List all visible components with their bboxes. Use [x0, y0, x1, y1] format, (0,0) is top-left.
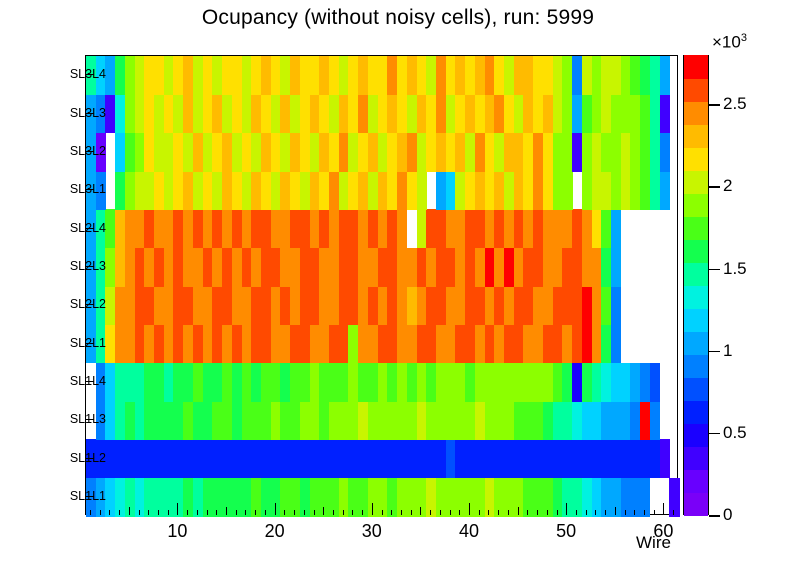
y-axis-tick [85, 228, 94, 229]
x-axis-tick [314, 510, 315, 515]
x-axis-tick [566, 503, 567, 515]
color-scale-exponent: ×103 [712, 32, 747, 53]
x-axis-tick [382, 510, 383, 515]
color-scale-ticklabel: 2.5 [723, 94, 747, 114]
root-canvas: Ocupancy (without noisy cells), run: 599… [0, 0, 796, 572]
page-title: Ocupancy (without noisy cells), run: 599… [0, 6, 796, 30]
x-axis-tick [323, 507, 324, 515]
x-axis-tick [411, 510, 412, 515]
x-axis-tick [284, 510, 285, 515]
color-scale-band [684, 377, 708, 401]
x-axis-tick [479, 510, 480, 515]
x-axis-tick [236, 510, 237, 515]
x-axis-tick [440, 510, 441, 515]
color-scale-band [684, 239, 708, 263]
color-scale-tick [709, 515, 720, 517]
x-axis-tick [518, 507, 519, 515]
color-scale-band [684, 124, 708, 148]
x-axis-tick [216, 510, 217, 515]
heatmap-cells [86, 56, 677, 514]
color-scale-band [684, 193, 708, 217]
heatmap-cell [611, 286, 621, 325]
x-axis-tick [488, 510, 489, 515]
x-axis-tick [187, 510, 188, 515]
x-axis-tick [119, 510, 120, 515]
x-axis-tick [547, 510, 548, 515]
heatmap-cell [660, 94, 670, 133]
heatmap-cell [417, 171, 427, 210]
heatmap-cell [669, 478, 679, 517]
color-scale-bar[interactable] [683, 55, 709, 515]
x-axis-tick [644, 510, 645, 515]
x-axis-tick [625, 510, 626, 515]
color-scale-band [684, 262, 708, 286]
color-scale-band [684, 216, 708, 240]
color-scale-band [684, 55, 708, 79]
x-axis-tick [401, 510, 402, 515]
x-axis-tick [372, 503, 373, 515]
x-axis-tick [197, 510, 198, 515]
x-axis-tick [362, 510, 363, 515]
color-scale-band [684, 446, 708, 470]
heatmap-cell [611, 324, 621, 363]
color-scale-band [684, 308, 708, 332]
x-axis-tick [226, 507, 227, 515]
y-axis-tick [85, 151, 94, 152]
heatmap-cell [397, 209, 407, 248]
color-scale-band [684, 101, 708, 125]
color-scale-ticklabel: 0 [723, 505, 732, 525]
x-axis-tick [352, 510, 353, 515]
x-axis-tick [294, 510, 295, 515]
color-scale-tick [709, 104, 720, 106]
y-axis-tick [85, 74, 94, 75]
heatmap-cell [660, 56, 670, 95]
color-scale-ticklabel: 0.5 [723, 423, 747, 443]
color-scale-band [684, 354, 708, 378]
heatmap-frame[interactable] [85, 55, 678, 515]
y-axis-tick [85, 496, 94, 497]
x-axis-tick [469, 503, 470, 515]
y-axis-tick [85, 113, 94, 114]
color-scale-band [684, 423, 708, 447]
color-scale-ticklabel: 2 [723, 176, 732, 196]
color-scale-tick [709, 351, 720, 353]
x-axis-ticklabel: 50 [556, 521, 576, 542]
color-scale-tick [709, 433, 720, 435]
x-axis-tick [605, 510, 606, 515]
color-scale-tick [709, 269, 720, 271]
x-axis-tick [527, 510, 528, 515]
x-axis-tick [158, 510, 159, 515]
x-axis-ticklabel: 10 [167, 521, 187, 542]
x-axis-ticklabel: 30 [362, 521, 382, 542]
heatmap-cell [650, 363, 660, 402]
heatmap-cell [611, 248, 621, 287]
y-axis-tick [85, 381, 94, 382]
y-axis-tick [85, 189, 94, 190]
color-scale-ticklabel: 1 [723, 341, 732, 361]
x-axis-tick [168, 510, 169, 515]
y-axis-tick [85, 266, 94, 267]
x-axis-tick [343, 510, 344, 515]
x-axis-tick [595, 510, 596, 515]
y-axis-tick [85, 419, 94, 420]
x-axis-tick [430, 510, 431, 515]
x-axis-tick [177, 503, 178, 515]
color-scale-band [684, 78, 708, 102]
heatmap-cell [660, 133, 670, 172]
heatmap-cell [562, 171, 572, 210]
x-axis-tick [537, 510, 538, 515]
x-axis-ticklabel: 40 [459, 521, 479, 542]
color-scale-band [684, 469, 708, 493]
x-axis-tick [139, 510, 140, 515]
x-axis-tick [663, 503, 664, 515]
x-axis-tick [634, 510, 635, 515]
color-scale-band [684, 285, 708, 309]
color-scale-band [684, 331, 708, 355]
x-axis-tick [450, 510, 451, 515]
x-axis-tick [255, 510, 256, 515]
color-scale-ticklabel: 1.5 [723, 259, 747, 279]
color-scale-band [684, 400, 708, 424]
x-axis-tick [557, 510, 558, 515]
heatmap-cell [650, 401, 660, 440]
x-axis-tick [275, 503, 276, 515]
x-axis-tick [459, 510, 460, 515]
x-axis-tick [498, 510, 499, 515]
heatmap-cell [611, 209, 621, 248]
x-axis-tick [90, 510, 91, 515]
x-axis-tick [586, 510, 587, 515]
x-axis-ticklabel: 20 [265, 521, 285, 542]
x-axis-tick [420, 507, 421, 515]
x-axis-tick [391, 510, 392, 515]
x-axis-tick [333, 510, 334, 515]
heatmap-cell [640, 478, 650, 517]
x-axis-tick [109, 510, 110, 515]
x-axis-tick [245, 510, 246, 515]
y-axis-tick [85, 343, 94, 344]
x-axis-tick [576, 510, 577, 515]
color-scale-tick [709, 186, 720, 188]
x-axis-tick [265, 510, 266, 515]
x-axis-tick [654, 510, 655, 515]
x-axis-tick [129, 507, 130, 515]
color-scale-band [684, 170, 708, 194]
x-axis-tick [615, 507, 616, 515]
heatmap-cell [660, 439, 670, 478]
x-axis-title: Wire [636, 533, 671, 553]
color-scale-band [684, 492, 708, 516]
y-axis-tick [85, 304, 94, 305]
x-axis-tick [148, 510, 149, 515]
x-axis-tick [508, 510, 509, 515]
x-axis-tick [673, 510, 674, 515]
x-axis-tick [100, 510, 101, 515]
x-axis-tick [304, 510, 305, 515]
x-axis-tick [207, 510, 208, 515]
heatmap-cell [660, 171, 670, 210]
y-axis-tick [85, 458, 94, 459]
color-scale-band [684, 147, 708, 171]
